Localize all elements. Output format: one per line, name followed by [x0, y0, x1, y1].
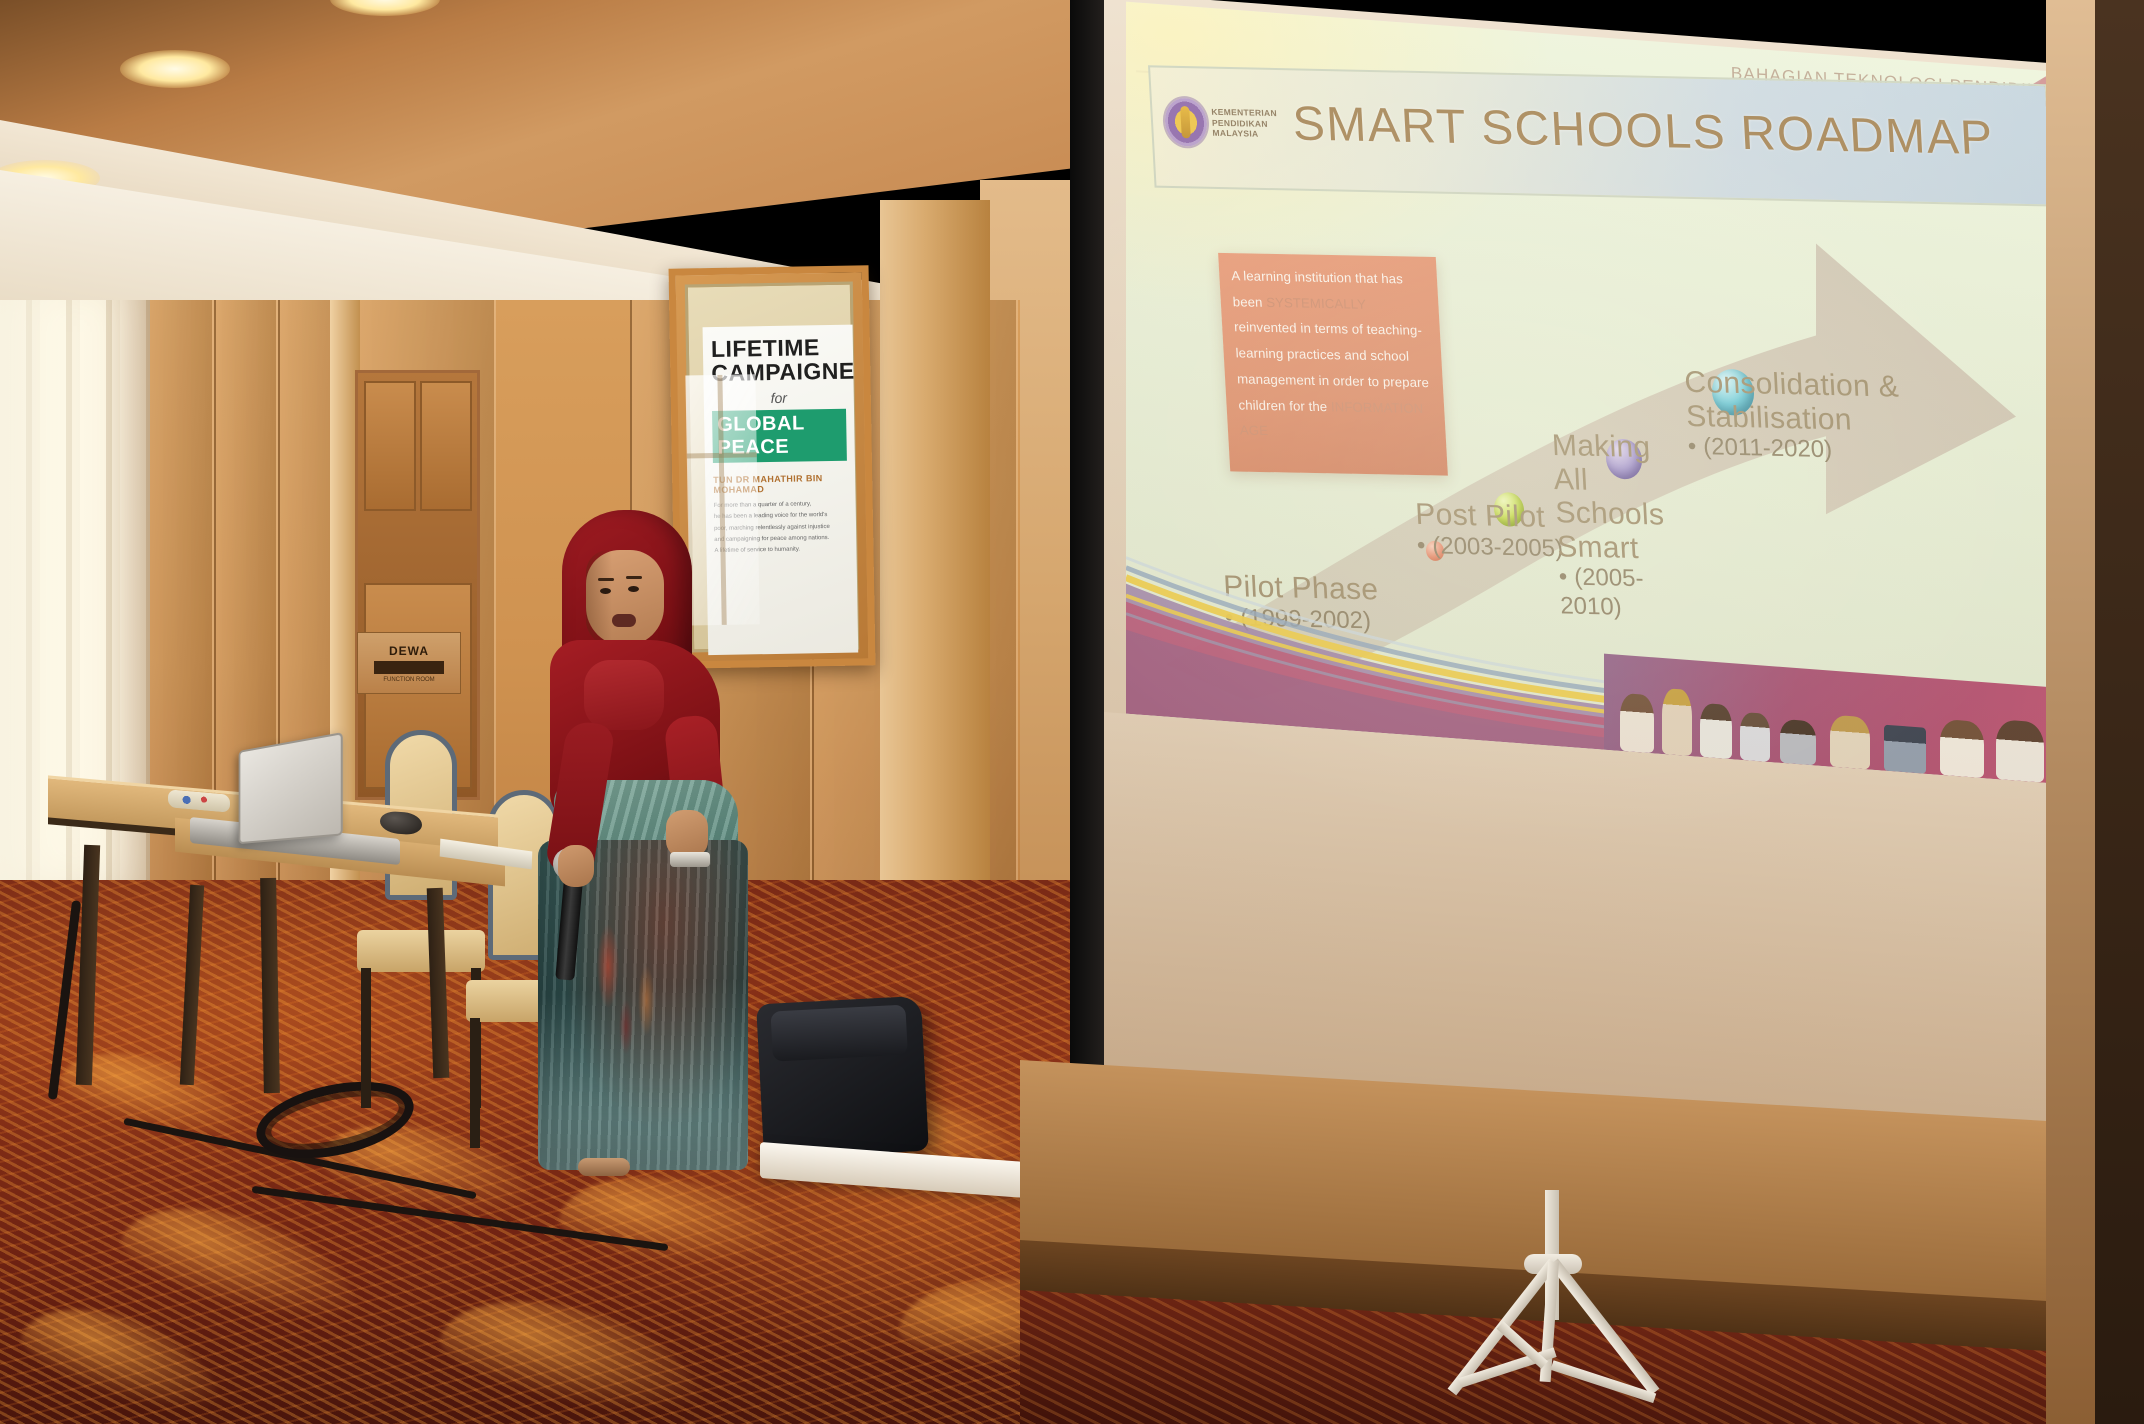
eyebrow [626, 576, 642, 579]
window-glow [0, 300, 150, 950]
phase-label-consolidation-stabilisation: Consolidation & Stabilisation •(2011-202… [1684, 366, 1919, 467]
laptop-screen[interactable] [239, 732, 343, 844]
mouth [612, 614, 636, 627]
presenter [520, 510, 770, 1170]
door-sign-sub: FUNCTION ROOM [383, 677, 434, 683]
eye [628, 586, 639, 592]
plaque-line1: LIFETIME [711, 335, 845, 362]
definition-box: A learning institution that has been SYS… [1218, 253, 1448, 476]
door-sign-bar [374, 661, 444, 674]
eyebrow [598, 578, 614, 581]
definition-text: A learning institution that has been SYS… [1231, 263, 1435, 447]
bullet-icon: • [1687, 433, 1697, 460]
foot [578, 1158, 630, 1176]
dress-pattern [572, 890, 692, 1080]
bag-flap [770, 1005, 907, 1062]
far-right-wall-dark [2095, 0, 2144, 1424]
bullet-icon: • [1416, 532, 1426, 559]
neck-scarf [584, 660, 664, 730]
eye [600, 588, 611, 594]
phase-years: •(2011-2020) [1687, 433, 1918, 467]
right-hand [666, 810, 708, 858]
phase-years-value: (2003-2005) [1432, 532, 1564, 562]
door-sign-label: DEWA [389, 644, 429, 658]
door-sign: DEWA FUNCTION ROOM [357, 632, 461, 694]
slide: Bahagian Teknologi Pendidikan Kementeria… [1126, 2, 2076, 785]
left-hand [558, 845, 594, 887]
wristwatch [670, 852, 710, 867]
face-shadow [586, 550, 612, 646]
downlight-icon [120, 50, 230, 88]
far-right-wall-lit [2046, 0, 2098, 1424]
photograph-scene: DEWA FUNCTION ROOM LIFETIME CAMPAIGNER f… [0, 0, 2144, 1424]
phase-years-value: (2011-2020) [1703, 433, 1833, 463]
phase-name: Consolidation & Stabilisation [1684, 366, 1917, 439]
ministry-logo-text: KEMENTERIANPENDIDIKANMALAYSIA [1211, 107, 1278, 140]
phase-name: Making All Schools Smart [1551, 429, 1678, 566]
laptop-bag[interactable] [756, 996, 929, 1159]
